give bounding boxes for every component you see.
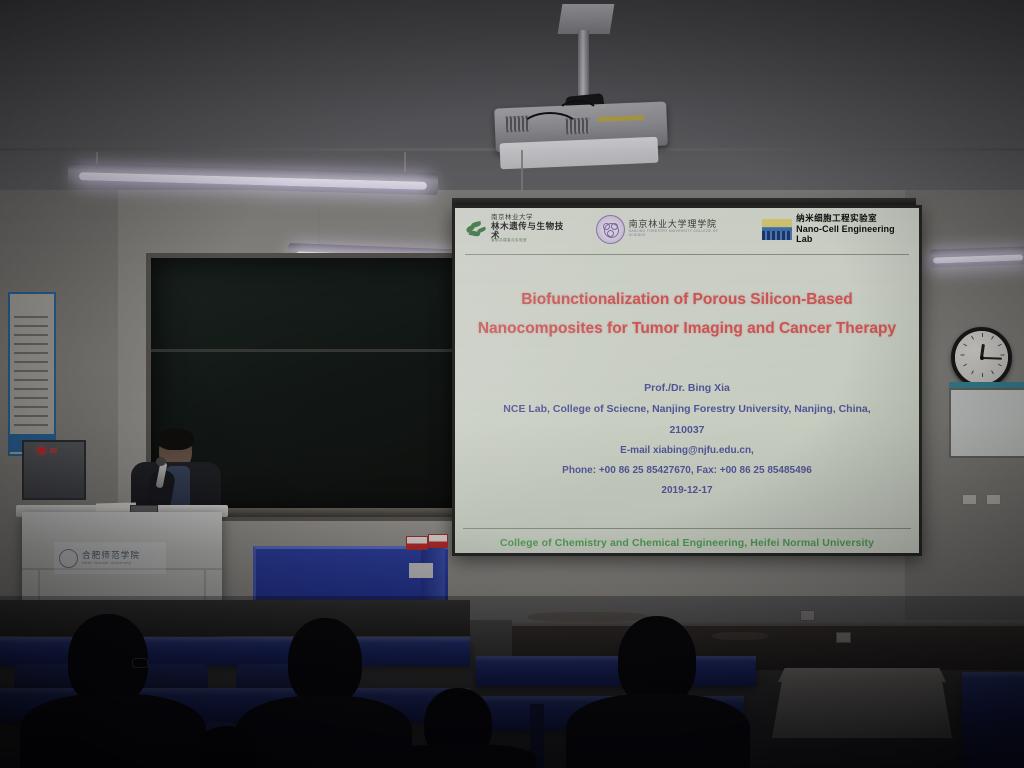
njfu-forestry-genetics-logo: 南京林业大学 林木遗传与生物技术 省部共建重点实验室 — [465, 215, 570, 243]
njfu-green-line3: 省部共建重点实验室 — [491, 239, 570, 243]
seat-back-r1-b — [142, 664, 208, 688]
electrical-panel-led-red — [38, 448, 45, 453]
clock-face — [955, 331, 1008, 384]
speaker-hair — [157, 428, 194, 450]
university-seal-icon — [596, 215, 625, 244]
seal-line2: NANJING FORESTRY UNIVERSITY COLLEGE OF S… — [629, 230, 733, 237]
presenter-postcode: 210037 — [469, 420, 905, 441]
electrical-panel-led-secondary — [50, 448, 57, 453]
nano-cell-lab-logo: 纳米细胞工程实验室 Nano-Cell Engineering Lab — [762, 214, 909, 244]
slide-footer: College of Chemistry and Chemical Engine… — [465, 537, 909, 549]
desk-row-right-1-lip — [476, 656, 756, 662]
slide-title: Biofunctionalization of Porous Silicon-B… — [469, 286, 905, 343]
projection-screen: 南京林业大学 林木遗传与生物技术 省部共建重点实验室 南京林业大学理学院 — [452, 205, 922, 556]
panel-label-tag — [409, 563, 433, 578]
slide-footer-rule — [463, 528, 911, 529]
wall-clock — [951, 327, 1012, 388]
presenter-name: Prof./Dr. Bing Xia — [469, 378, 905, 399]
slide-title-line1: Biofunctionalization of Porous Silicon-B… — [469, 286, 905, 315]
ceiling-light-right — [930, 246, 1024, 267]
blackboard-divider — [151, 349, 457, 352]
wall-outlet-left[interactable] — [962, 494, 977, 505]
notice-board-text-lines — [14, 316, 48, 428]
desk-row-right-1 — [476, 660, 756, 686]
slide-body: Prof./Dr. Bing Xia NCE Lab, College of S… — [469, 378, 905, 501]
whiteboard — [949, 388, 1024, 458]
podium-plaque-en: Hefei Normal University — [82, 561, 140, 565]
projector-mount-pole — [578, 30, 589, 102]
njfu-green-line2: 林木遗传与生物技术 — [491, 222, 570, 240]
clock-center-pin — [980, 356, 984, 360]
microphone-head — [156, 457, 166, 466]
wall-damage-patch-1 — [528, 612, 648, 622]
nano-line2: Nano-Cell Engineering Lab — [796, 224, 909, 245]
njfu-college-of-science-logo: 南京林业大学理学院 NANJING FORESTRY UNIVERSITY CO… — [596, 215, 733, 244]
hefei-normal-emblem-icon — [59, 549, 78, 568]
stage-front-face — [0, 600, 470, 636]
presenter-email: E-mail xiabing@njfu.edu.cn, — [469, 441, 905, 461]
desk-far-right-lip — [962, 672, 1024, 679]
desk-far-right — [962, 676, 1024, 768]
small-box-right — [428, 534, 448, 548]
projector-cable-2 — [556, 100, 600, 130]
wall-outlet-rear[interactable] — [800, 610, 815, 621]
audience-glasses — [132, 658, 148, 668]
presenter-affiliation: NCE Lab, College of Sciecne, Nanjing For… — [469, 399, 905, 420]
clock-minute-hand — [981, 357, 1001, 360]
wall-outlet-rear-2[interactable] — [836, 632, 851, 643]
nano-line1: 纳米细胞工程实验室 — [796, 214, 909, 224]
presentation-date: 2019-12-17 — [469, 481, 905, 501]
slide-header: 南京林业大学 林木遗传与生物技术 省部共建重点实验室 南京林业大学理学院 — [455, 208, 919, 248]
slide-title-line2: Nanocomposites for Tumor Imaging and Can… — [469, 315, 905, 344]
slide-header-rule — [465, 254, 909, 255]
lecture-hall-scene: 南京林业大学 林木遗传与生物技术 省部共建重点实验室 南京林业大学理学院 — [0, 0, 1024, 768]
nano-cell-icon — [762, 219, 792, 240]
presentation-slide: 南京林业大学 林木遗传与生物技术 省部共建重点实验室 南京林业大学理学院 — [455, 208, 919, 553]
light-hanger-left2 — [404, 152, 406, 172]
podium-plaque-cn: 合肥师范学院 — [82, 551, 140, 561]
presenter-phone-fax: Phone: +00 86 25 85427670, Fax: +00 86 2… — [469, 461, 905, 481]
desk-row-2-lip — [0, 688, 470, 695]
podium-plaque: 合肥师范学院 Hefei Normal University — [54, 542, 166, 574]
bamboo-leaf-icon — [465, 219, 487, 240]
wall-damage-patch-2 — [712, 632, 768, 640]
wall-outlet-right[interactable] — [986, 494, 1001, 505]
platform-step — [772, 676, 952, 738]
small-box-left — [406, 536, 428, 550]
